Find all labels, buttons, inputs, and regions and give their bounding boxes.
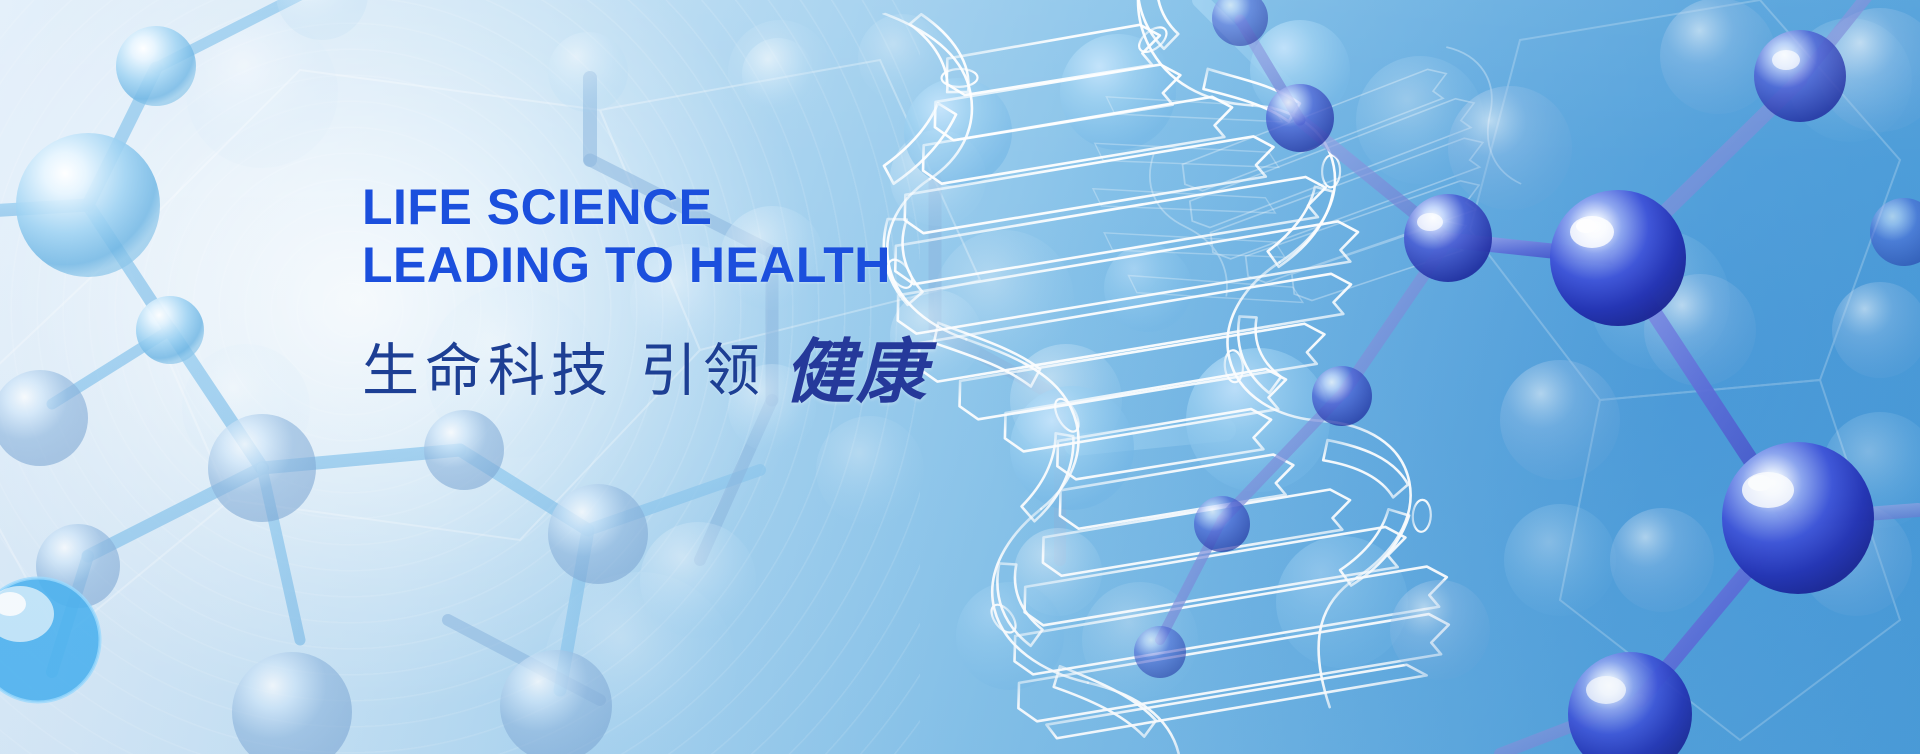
headline-line-2: LEADING TO HEALTH [362,236,928,294]
subheadline-part-3-calligraphy: 健康 [784,316,928,417]
subheadline-line: 生命科技 引领 健康 [362,310,928,411]
headline-line-1: LIFE SCIENCE [362,178,928,236]
life-science-banner: LIFE SCIENCE LEADING TO HEALTH 生命科技 引领 健… [0,0,1920,754]
subheadline-part-2: 引领 [640,325,766,407]
subheadline-part-1: 生命科技 [362,325,614,407]
banner-text-block: LIFE SCIENCE LEADING TO HEALTH 生命科技 引领 健… [362,178,928,411]
vignette-overlay [0,0,1920,754]
